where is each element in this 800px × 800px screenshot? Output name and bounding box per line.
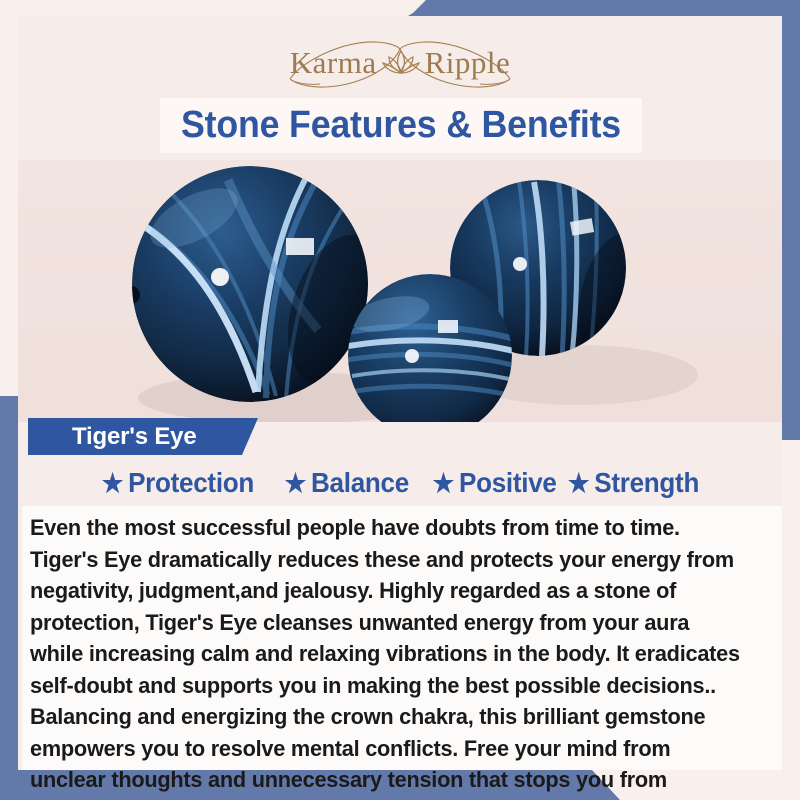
star-icon: ★ xyxy=(285,470,307,496)
star-icon: ★ xyxy=(432,470,454,496)
brand-logo: Karma Ripple xyxy=(0,26,800,98)
benefit-item-protection: ★ Protection xyxy=(102,467,254,499)
page-title: Stone Features & Benefits xyxy=(181,104,621,147)
poster-root: Karma Ripple Stone Features & Benefits xyxy=(0,0,800,800)
benefit-item-balance: ★ Balance xyxy=(285,467,409,499)
benefit-label: Balance xyxy=(311,467,409,499)
stone-name-label: Tiger's Eye xyxy=(72,423,196,451)
star-icon: ★ xyxy=(102,470,124,496)
benefit-label: Protection xyxy=(128,467,254,499)
decor-left-strip xyxy=(0,396,18,800)
stone-name-ribbon: Tiger's Eye xyxy=(28,418,258,455)
brand-word-right: Ripple xyxy=(425,47,511,78)
description-paragraph: Even the most successful people have dou… xyxy=(30,512,746,800)
benefit-label: Strength xyxy=(594,467,699,499)
lotus-icon xyxy=(381,45,421,79)
gemstone-photo xyxy=(18,160,782,422)
star-icon: ★ xyxy=(568,470,590,496)
benefit-item-strength: ★ Strength xyxy=(568,467,699,499)
benefits-row: ★ Protection ★ Balance ★ Positive ★ Stre… xyxy=(18,462,782,504)
decor-top-right-wedge xyxy=(408,0,434,16)
description-card: Even the most successful people have dou… xyxy=(22,506,782,770)
title-band: Stone Features & Benefits xyxy=(160,98,642,153)
decor-top-right-bar xyxy=(410,0,800,16)
benefit-label: Positive xyxy=(459,467,557,499)
brand-word-left: Karma xyxy=(290,47,377,78)
brand-logo-inner: Karma Ripple xyxy=(250,27,550,97)
benefit-item-positive: ★ Positive xyxy=(432,467,556,499)
